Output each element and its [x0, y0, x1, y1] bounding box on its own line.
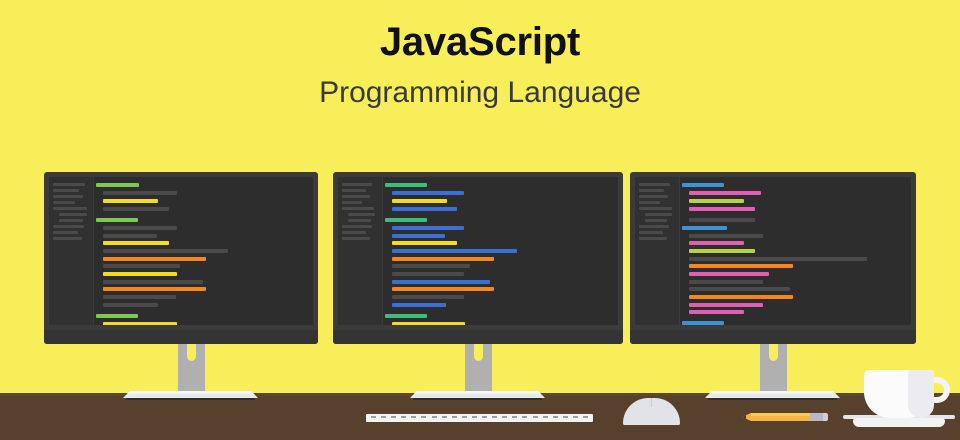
- sidebar-line: [342, 189, 366, 192]
- sidebar-line: [639, 189, 664, 192]
- code-line: [103, 295, 176, 299]
- keyboard-keys: [371, 416, 588, 418]
- code-line: [392, 287, 494, 291]
- page-title: JavaScript: [0, 20, 960, 65]
- sidebar-line: [53, 189, 79, 192]
- code-line: [689, 249, 755, 253]
- keyboard-key: [391, 416, 396, 418]
- sidebar-line: [342, 207, 374, 210]
- keyboard[interactable]: [366, 414, 593, 422]
- sidebar-line: [645, 213, 672, 216]
- code-line: [392, 226, 464, 230]
- keyboard-key: [401, 416, 406, 418]
- keyboard-key: [432, 416, 437, 418]
- keyboard-key: [442, 416, 447, 418]
- keyboard-key: [482, 416, 487, 418]
- keyboard-key: [502, 416, 507, 418]
- code-line: [689, 218, 755, 222]
- code-line: [689, 257, 867, 261]
- pencil-body-highlight: [751, 413, 810, 416]
- keyboard-key: [512, 416, 517, 418]
- sidebar-line: [348, 213, 375, 216]
- sidebar-line: [348, 219, 371, 222]
- code-line: [96, 183, 139, 187]
- code-line: [392, 234, 445, 238]
- code-line: [392, 257, 494, 261]
- monitor-2[interactable]: [333, 172, 623, 344]
- keyboard-key: [522, 416, 527, 418]
- code-line: [392, 241, 457, 245]
- code-line: [689, 234, 763, 238]
- monitor-2-editor-sidebar[interactable]: [338, 177, 383, 325]
- sidebar-line: [639, 207, 672, 210]
- code-line: [689, 295, 793, 299]
- pencil-lead: [742, 415, 746, 419]
- monitor-3[interactable]: [630, 172, 916, 344]
- code-line: [392, 199, 447, 203]
- sidebar-line: [53, 231, 78, 234]
- stand-3-base-highlight: [705, 391, 840, 394]
- sidebar-line: [639, 231, 663, 234]
- sidebar-line: [342, 195, 370, 198]
- code-line: [96, 218, 138, 222]
- stand-2-cable-slot: [474, 344, 483, 361]
- code-line: [103, 322, 177, 325]
- sidebar-line: [645, 219, 667, 222]
- sidebar-line: [639, 237, 667, 240]
- stand-2-base: [410, 391, 545, 399]
- monitor-2-screen[interactable]: [338, 177, 618, 325]
- code-line: [392, 303, 446, 307]
- keyboard-key: [563, 416, 568, 418]
- code-line: [392, 280, 490, 284]
- code-line: [103, 241, 169, 245]
- javascript-poster-scene: JavaScript Programming Language: [0, 0, 960, 440]
- code-line: [385, 218, 427, 222]
- keyboard-key: [452, 416, 457, 418]
- code-line: [689, 272, 769, 276]
- monitor-1-chin: [44, 330, 318, 344]
- sidebar-line: [53, 225, 84, 228]
- page-subtitle: Programming Language: [0, 76, 960, 110]
- keyboard-key: [371, 416, 376, 418]
- pencil[interactable]: [742, 413, 828, 421]
- mouse-button-divider: [651, 398, 652, 407]
- code-line: [96, 314, 138, 318]
- sidebar-line: [639, 195, 668, 198]
- pencil-eraser: [823, 413, 828, 421]
- sidebar-line: [342, 231, 366, 234]
- stand-2-base-highlight: [410, 391, 545, 394]
- sidebar-line: [342, 183, 372, 186]
- sidebar-line: [53, 195, 83, 198]
- code-line: [103, 226, 177, 230]
- monitor-2-chin: [333, 330, 623, 344]
- sidebar-line: [342, 225, 372, 228]
- code-line: [385, 314, 427, 318]
- code-line: [689, 264, 793, 268]
- code-line: [689, 310, 744, 314]
- monitor-3-editor-sidebar[interactable]: [635, 177, 680, 325]
- sidebar-line: [53, 183, 85, 186]
- sidebar-line: [639, 201, 660, 204]
- stand-1-cable-slot: [187, 344, 196, 361]
- code-line: [392, 295, 464, 299]
- code-line: [682, 226, 727, 230]
- keyboard-key: [472, 416, 477, 418]
- pencil-ferrule: [810, 413, 823, 421]
- sidebar-line: [59, 213, 87, 216]
- code-line: [103, 207, 169, 211]
- monitor-3-chin: [630, 330, 916, 344]
- code-line: [689, 191, 761, 195]
- code-line: [392, 322, 465, 325]
- stand-1-base: [123, 391, 258, 399]
- code-line: [103, 234, 157, 238]
- keyboard-key: [421, 416, 426, 418]
- code-line: [103, 280, 203, 284]
- monitor-1[interactable]: [44, 172, 318, 344]
- code-line: [392, 272, 464, 276]
- code-line: [103, 287, 206, 291]
- sidebar-line: [53, 237, 82, 240]
- saucer: [853, 418, 945, 427]
- keyboard-key: [573, 416, 578, 418]
- keyboard-key: [553, 416, 558, 418]
- monitor-1-screen[interactable]: [49, 177, 313, 325]
- code-line: [103, 264, 180, 268]
- stand-3-cable-slot: [769, 344, 778, 361]
- code-line: [689, 207, 755, 211]
- stand-1-base-highlight: [123, 391, 258, 394]
- monitor-1-editor-sidebar[interactable]: [49, 177, 94, 325]
- code-line: [103, 199, 158, 203]
- code-line: [103, 191, 177, 195]
- keyboard-key: [381, 416, 386, 418]
- sidebar-line: [342, 201, 362, 204]
- code-line: [385, 183, 427, 187]
- keyboard-key: [543, 416, 548, 418]
- sidebar-line: [53, 207, 87, 210]
- code-line: [689, 199, 744, 203]
- code-line: [682, 183, 724, 187]
- keyboard-key: [533, 416, 538, 418]
- coffee-cup-shading: [908, 370, 934, 418]
- code-line: [103, 249, 228, 253]
- sidebar-line: [639, 183, 670, 186]
- code-line: [392, 191, 464, 195]
- keyboard-key: [492, 416, 497, 418]
- code-line: [689, 303, 763, 307]
- monitor-3-screen[interactable]: [635, 177, 911, 325]
- keyboard-key: [411, 416, 416, 418]
- code-line: [392, 264, 470, 268]
- code-line: [682, 321, 724, 325]
- code-line: [103, 303, 158, 307]
- keyboard-key: [462, 416, 467, 418]
- code-line: [689, 280, 763, 284]
- code-line: [689, 241, 744, 245]
- sidebar-line: [53, 201, 75, 204]
- code-line: [392, 249, 517, 253]
- code-line: [689, 287, 790, 291]
- stand-3-base: [705, 391, 840, 399]
- code-line: [392, 207, 457, 211]
- sidebar-line: [639, 225, 669, 228]
- sidebar-line: [59, 219, 83, 222]
- code-line: [103, 257, 206, 261]
- keyboard-key: [583, 416, 588, 418]
- code-line: [103, 272, 177, 276]
- sidebar-line: [342, 237, 370, 240]
